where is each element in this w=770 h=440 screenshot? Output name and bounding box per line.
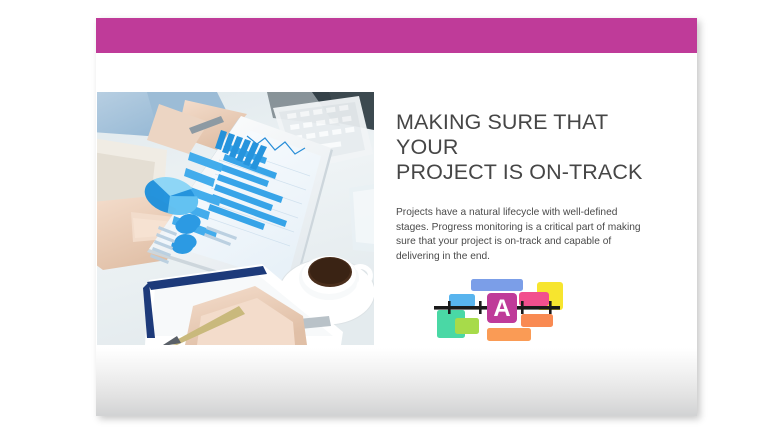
gantt-axis-tick-2: [479, 301, 482, 314]
gantt-axis-tick-3: [521, 301, 524, 314]
gantt-bar-periwinkle: [471, 279, 523, 291]
gantt-bar-orange-right: [521, 314, 553, 327]
slide-text-column: MAKING SURE THAT YOUR PROJECT IS ON-TRAC…: [396, 110, 658, 264]
gantt-timeline-icon: A: [431, 266, 581, 348]
gantt-bar-skyblue: [449, 294, 475, 307]
gantt-axis-tick-1: [448, 301, 451, 314]
photo-illustration: [97, 92, 374, 345]
gantt-center-letter: A: [493, 295, 510, 322]
slide-background: MAKING SURE THAT YOUR PROJECT IS ON-TRAC…: [96, 18, 697, 416]
presentation-slide[interactable]: MAKING SURE THAT YOUR PROJECT IS ON-TRAC…: [96, 18, 697, 416]
slide-photo: [97, 92, 374, 345]
screenshot-canvas: MAKING SURE THAT YOUR PROJECT IS ON-TRAC…: [0, 0, 770, 440]
slide-paragraph: Projects have a natural lifecycle with w…: [396, 206, 641, 264]
slide-title: MAKING SURE THAT YOUR PROJECT IS ON-TRAC…: [396, 110, 658, 185]
gantt-axis-tick-4: [549, 301, 552, 314]
gantt-bar-lime: [455, 318, 479, 334]
gantt-icon-graphic: A: [431, 266, 581, 348]
slide-header-banner: [96, 18, 697, 53]
gantt-bar-orange-bottom: [487, 328, 531, 341]
